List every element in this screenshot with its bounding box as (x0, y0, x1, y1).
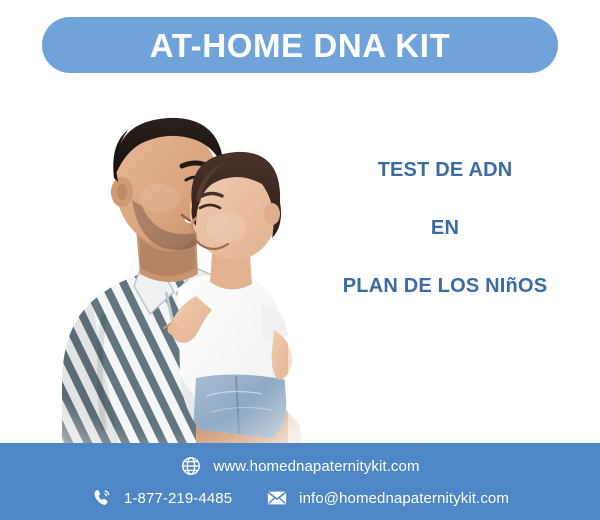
envelope-icon (266, 487, 288, 509)
headline-block: TEST DE ADN EN PLAN DE LOS NIñOS (300, 160, 590, 296)
headline-line-3: PLAN DE LOS NIñOS (300, 276, 590, 296)
email-text: info@homednapaternitykit.com (299, 490, 509, 507)
headline-line-2: EN (300, 218, 590, 238)
footer-row-phone-email: 1-877-219-4485 info@homednapaternitykit.… (0, 487, 600, 509)
hero-photo (0, 78, 320, 450)
footer-row-website: www.homednapaternitykit.com (0, 455, 600, 477)
poster-root: AT-HOME DNA KIT (0, 0, 600, 520)
globe-icon (180, 455, 202, 477)
header-banner: AT-HOME DNA KIT (42, 17, 558, 73)
contact-website[interactable]: www.homednapaternitykit.com (180, 455, 419, 477)
contact-email[interactable]: info@homednapaternitykit.com (266, 487, 509, 509)
website-text: www.homednapaternitykit.com (213, 458, 419, 475)
contact-phone[interactable]: 1-877-219-4485 (91, 487, 232, 509)
page-title: AT-HOME DNA KIT (150, 29, 450, 62)
phone-text: 1-877-219-4485 (124, 490, 232, 507)
headline-line-1: TEST DE ADN (300, 160, 590, 180)
hero-photo-image (0, 78, 320, 450)
phone-icon (91, 487, 113, 509)
footer-contact-bar: www.homednapaternitykit.com 1-877-219-44… (0, 443, 600, 520)
